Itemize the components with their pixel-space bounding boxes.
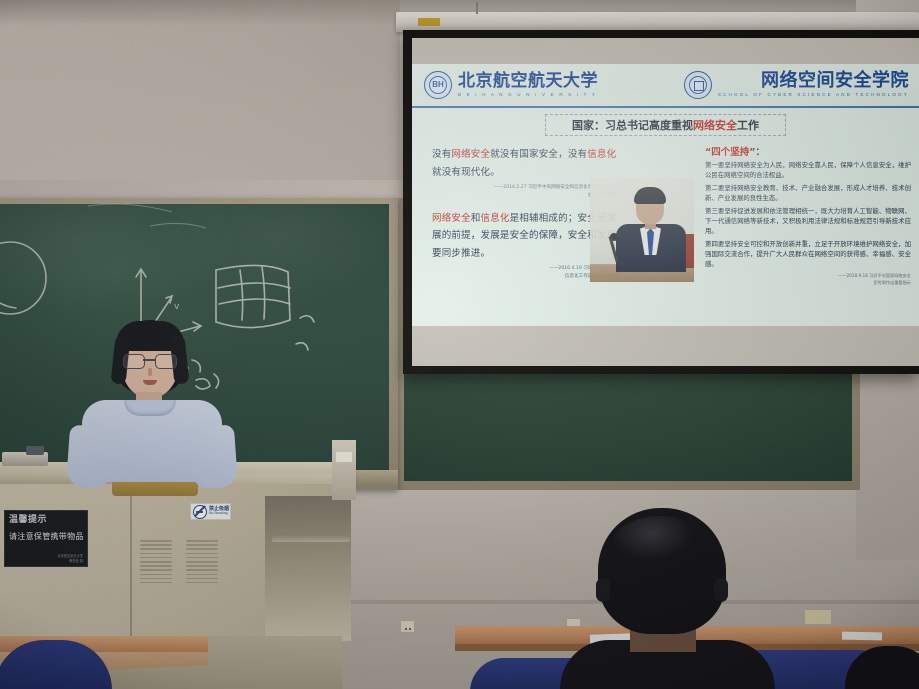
notice-fine-print-1: 北京航空航天大学 [58, 554, 84, 558]
right-column-item: 第二要坚持网络安全教育、技术、产业融合发展，形成人才培养、技术创新、产业发展的良… [705, 183, 911, 204]
lectern-panel-seam [130, 484, 132, 644]
wall-small-sign [805, 610, 831, 624]
university-seal-icon: BH [424, 71, 452, 99]
slide-title-suffix: 工作 [737, 119, 759, 132]
student-hair-highlight [612, 516, 710, 572]
q2-hl2: 信息化 [481, 213, 510, 224]
school-seal-icon [684, 71, 712, 99]
citation-3-line-2: 宣传周作出重要指示 [705, 279, 911, 286]
slide-right-column: “四个坚持”： 第一要坚持网络安全为人民，网络安全靠人民，保障个人信息安全，维护… [705, 144, 911, 286]
school-logo: 网络空间安全学院 SCHOOL OF CYBER SCIENCE AND TEC… [684, 71, 909, 99]
notice-title: 温馨提示 [9, 516, 83, 525]
classroom-photo-scene: v [0, 0, 919, 689]
student-ear-left [596, 578, 610, 602]
quote-block-1: 没有网络安全就没有国家安全，没有信息化就没有现代化。 [432, 146, 620, 181]
q2-hl1: 网络安全 [432, 213, 471, 224]
no-smoking-sticker: 禁止吸烟 No Smoking [190, 503, 231, 520]
lectern-notice-sign: 温馨提示 请注意保管携带物品 北京航空航天大学 教务处 制 [4, 510, 88, 567]
presenter-sleeve-right [188, 424, 238, 489]
lectern-open-cavity [265, 496, 351, 641]
slide-header: BH 北京航空航天大学 B E I H A N G U N I V E R S … [412, 64, 919, 108]
university-name-en: B E I H A N G U N I V E R S I T Y [458, 93, 598, 98]
right-heading-suffix: ： [756, 147, 766, 158]
university-logo: BH 北京航空航天大学 B E I H A N G U N I V E R S … [424, 71, 598, 99]
right-heading-highlight: “四个坚持” [705, 147, 756, 158]
presenter-nose [148, 368, 152, 376]
power-outlet-left[interactable] [400, 620, 415, 633]
q1-b: 就没有国家安全，没有 [490, 149, 587, 160]
notice-fine-print-2: 教务处 制 [58, 559, 84, 563]
slide-embedded-photo [590, 178, 694, 282]
no-smoking-text: 禁止吸烟 No Smoking [209, 507, 229, 516]
right-column-heading: “四个坚持”： [705, 144, 911, 158]
photo-hair [634, 187, 666, 204]
no-smoking-icon [193, 505, 207, 519]
right-column-item: 第三要坚持促进发展和依法管理相统一，既大力培育人工智能、物联网、下一代通信网络等… [705, 206, 911, 237]
slide-title-wrapper: 国家：习总书记高度重视网络安全工作 [412, 114, 919, 136]
side-cabinet [332, 440, 356, 500]
right-column-item: 第四要坚持安全可控和开放创新并重，立足于开放环境维护网络安全，加强国际交流合作，… [705, 239, 911, 270]
q1-hl2: 信息化 [587, 149, 616, 160]
presenter-figure [60, 318, 240, 488]
paper-on-desk [842, 632, 882, 641]
no-smoking-label-en: No Smoking [209, 512, 229, 516]
presenter-collar [124, 400, 176, 416]
lectern-drawer-rail[interactable] [272, 534, 350, 542]
student-ear-right [714, 578, 728, 602]
screen-case-hook [476, 2, 478, 14]
projection-screen-case[interactable] [396, 12, 919, 32]
q1-c: 就没有现代化。 [432, 167, 500, 178]
presenter-glasses-right-lens [155, 354, 177, 369]
screen-case-label [418, 18, 440, 26]
cigarette-icon [196, 511, 203, 513]
slide-title-highlight: 网络安全 [693, 119, 737, 132]
seal-monogram: BH [432, 81, 444, 89]
q1-hl1: 网络安全 [451, 149, 490, 160]
citation-3: ——2018.9.18 习近平对国家网络安全 宣传周作出重要指示 [705, 272, 911, 286]
projection-screen-surface: BH 北京航空航天大学 B E I H A N G U N I V E R S … [412, 38, 919, 366]
right-column-item: 第一要坚持网络安全为人民，网络安全靠人民，保障个人信息安全，维护公民在网络空间的… [705, 160, 911, 181]
school-name-en: SCHOOL OF CYBER SCIENCE AND TECHNOLOGY [718, 93, 909, 98]
lectern-device[interactable] [26, 446, 44, 455]
notice-fine-print: 北京航空航天大学 教务处 制 [58, 554, 84, 563]
university-name-cn: 北京航空航天大学 [458, 73, 598, 90]
slide-body: 没有网络安全就没有国家安全，没有信息化就没有现代化。 ——2014.2.27 习… [412, 142, 919, 326]
citation-3-line-1: ——2018.9.18 习近平对国家网络安全 [705, 272, 911, 279]
presenter-glasses-bridge [143, 359, 155, 361]
slide-title-banner: 国家：习总书记高度重视网络安全工作 [545, 114, 786, 136]
slide-title-prefix: 国家：习总书记高度重视 [572, 119, 693, 132]
presenter-glasses-left-lens [123, 354, 145, 369]
q2-a: 和 [471, 213, 481, 224]
school-name-cn: 网络空间安全学院 [718, 72, 909, 90]
side-cabinet-panel [336, 452, 352, 462]
lectern-vent-left [140, 540, 172, 586]
lectern-vent-right [186, 540, 218, 586]
presentation-slide: BH 北京航空航天大学 B E I H A N G U N I V E R S … [412, 64, 919, 326]
notice-body: 请注意保管携带物品 [9, 531, 83, 542]
presenter-sleeve-left [66, 425, 114, 490]
projection-screen-frame: BH 北京航空航天大学 B E I H A N G U N I V E R S … [403, 30, 919, 374]
q1-a: 没有 [432, 149, 451, 160]
